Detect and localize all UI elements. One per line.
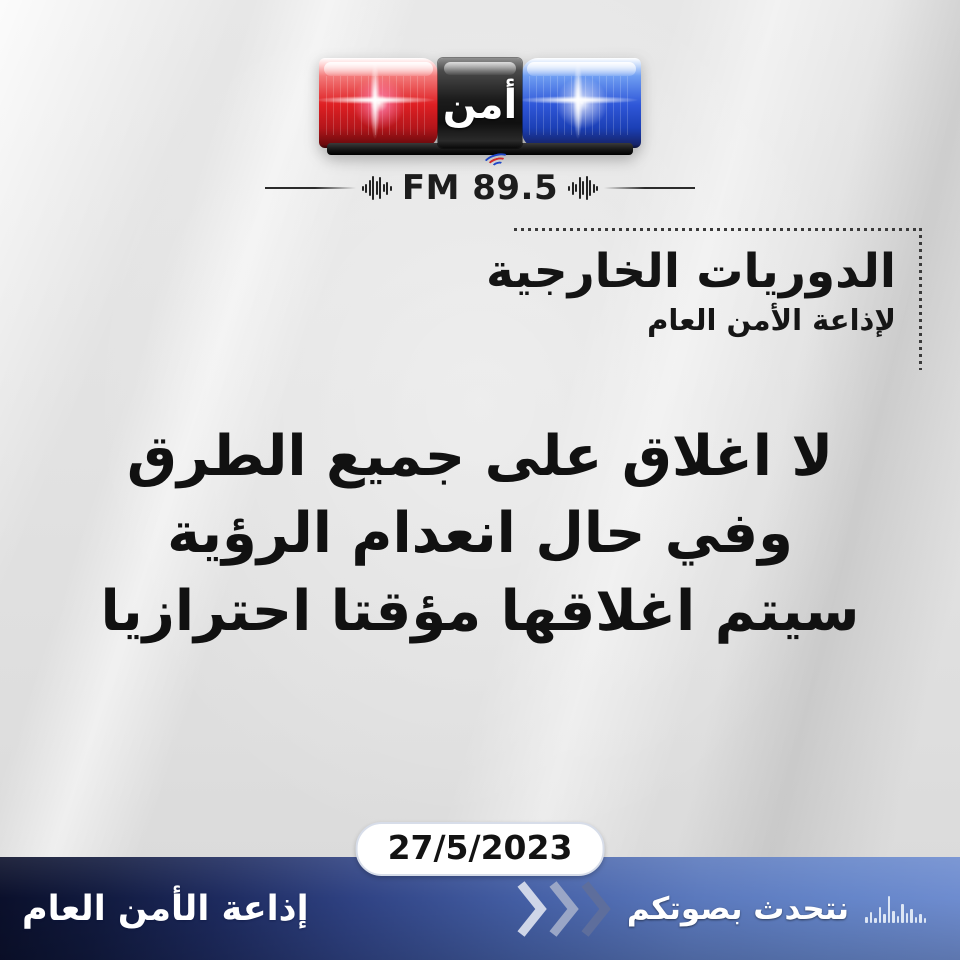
red-police-light-icon: [319, 58, 438, 148]
police-lightbar-icon: أمن: [319, 58, 641, 148]
dotted-bracket-top-icon: [514, 228, 922, 231]
date-badge: 27/5/2023: [356, 822, 605, 876]
triple-chevron-right-icon: [517, 880, 611, 938]
announcement-poster: أمن FM 89.5: [0, 0, 960, 960]
frequency-label: FM 89.5: [398, 168, 562, 208]
message-line-2: وفي حال انعدام الرؤية: [40, 495, 920, 572]
audio-waveform-icon: [568, 175, 598, 201]
announcement-message: لا اغلاق على جميع الطرق وفي حال انعدام ا…: [0, 418, 960, 650]
center-panel-gloss: [444, 62, 516, 75]
brand-arabic-label: أمن: [443, 85, 517, 125]
message-line-1: لا اغلاق على جميع الطرق: [40, 418, 920, 495]
blue-flare-icon: [577, 99, 579, 101]
footer-left-group: نتحدث بصوتكم: [517, 880, 926, 938]
frequency-rule-left: [604, 187, 695, 189]
footer-slogan: نتحدث بصوتكم: [627, 891, 849, 927]
dotted-bracket-side-icon: [919, 228, 922, 370]
frequency-text: FM 89.5: [402, 168, 558, 208]
heading-block: الدوريات الخارجية لإذاعة الأمن العام: [336, 228, 922, 344]
page-title: الدوريات الخارجية: [336, 244, 896, 299]
blue-police-light-icon: [522, 58, 641, 148]
red-flare-icon: [374, 99, 376, 101]
footer-station-name: إذاعة الأمن العام: [22, 889, 309, 929]
logo-center-panel: أمن: [438, 58, 522, 148]
frequency-row: FM 89.5: [265, 168, 695, 208]
audio-waveform-icon-right: [362, 175, 392, 201]
page-subtitle: لإذاعة الأمن العام: [336, 303, 896, 338]
station-logo: أمن FM 89.5: [0, 58, 960, 208]
frequency-rule-right: [265, 187, 356, 189]
message-line-3: سيتم اغلاقها مؤقتا احترازيا: [40, 573, 920, 650]
equalizer-bars-icon: [865, 895, 926, 923]
